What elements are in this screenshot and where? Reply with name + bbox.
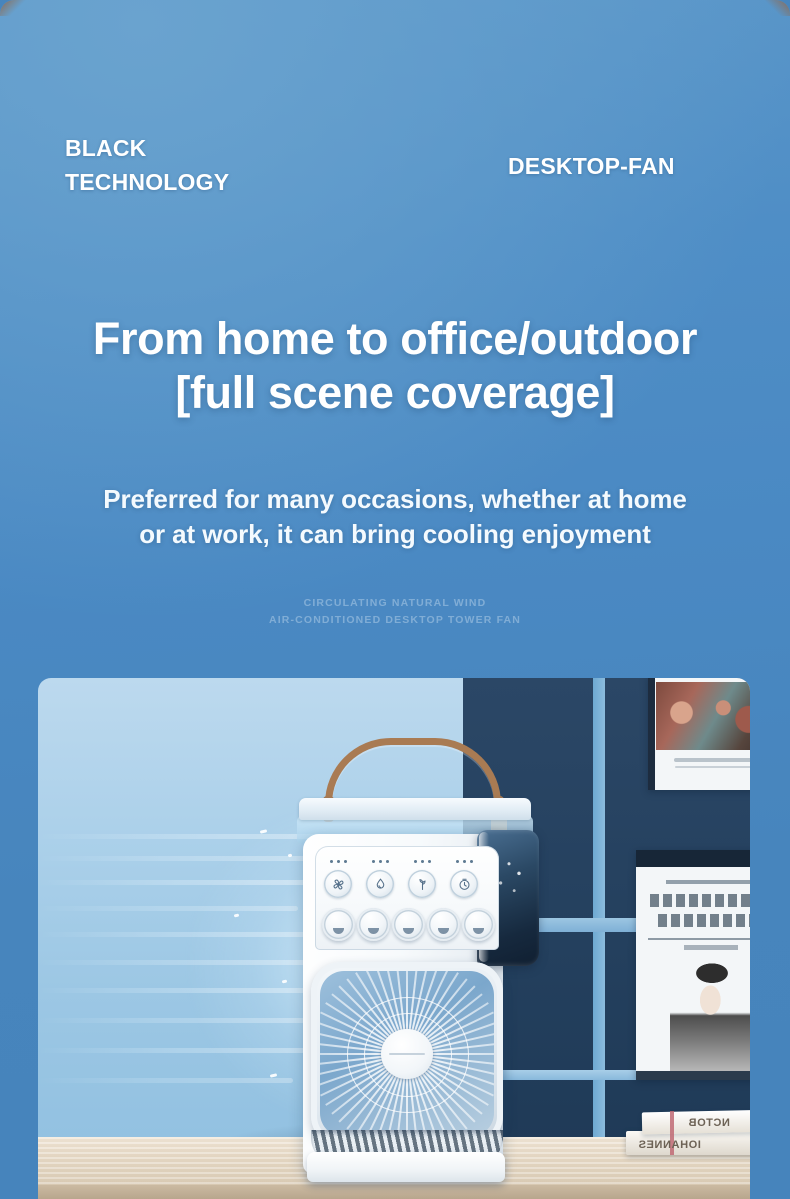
corner-artifact-right	[764, 0, 790, 16]
book-cover-rule	[648, 938, 750, 940]
shelf-divider-vertical	[593, 678, 605, 1152]
clock-icon	[457, 877, 472, 892]
fan-base	[307, 1152, 505, 1182]
water-drop-icon	[373, 877, 388, 892]
book-cover-footer	[636, 1071, 750, 1080]
frame-caption-lines	[674, 758, 750, 762]
product-photo: NCTOB IOHANNES	[38, 678, 750, 1199]
fan-icon	[331, 877, 346, 892]
headline: From home to office/outdoor [full scene …	[0, 312, 790, 420]
control-panel	[315, 846, 499, 950]
frame-spine	[648, 678, 655, 790]
brand-line-1: BLACK	[65, 131, 365, 165]
headline-line-1: From home to office/outdoor	[0, 312, 790, 366]
desktop-fan-unit	[281, 738, 546, 1178]
fan-grille-inner	[320, 971, 494, 1137]
stacked-books: NCTOB IOHANNES	[626, 1099, 750, 1155]
headline-line-2: [full scene coverage]	[0, 366, 790, 420]
watermark-text: CIRCULATING NATURAL WIND AIR-CONDITIONED…	[0, 595, 790, 629]
indicator-dots	[449, 860, 479, 863]
top-lid	[299, 798, 531, 820]
book-cover-subtitle	[666, 880, 750, 884]
mist-button[interactable]	[392, 908, 425, 941]
framed-picture-top	[648, 678, 750, 790]
corner-artifact-left	[0, 0, 26, 16]
book-cover-author	[684, 945, 738, 950]
watermark-line-2: AIR-CONDITIONED DESKTOP TOWER FAN	[0, 612, 790, 629]
humidify-indicator[interactable]	[408, 870, 436, 898]
product-kicker: DESKTOP-FAN	[508, 153, 675, 180]
book-cover-title-line-2	[658, 914, 750, 927]
book-cover-band	[636, 850, 750, 867]
product-banner: BLACK TECHNOLOGY DESKTOP-FAN From home t…	[0, 0, 790, 1199]
framed-book-cover	[636, 850, 750, 1080]
fan-hub	[381, 1029, 433, 1079]
book-cover-title-line-1	[650, 894, 750, 907]
fan-speed-indicator[interactable]	[324, 870, 352, 898]
book-title-upper: NCTOB	[688, 1117, 730, 1129]
speed-button[interactable]	[357, 908, 390, 941]
frame-artwork	[656, 682, 750, 750]
brand-label: BLACK TECHNOLOGY	[65, 131, 365, 199]
eyebrow-row: BLACK TECHNOLOGY DESKTOP-FAN	[0, 131, 790, 201]
book-title-lower: IOHANNES	[638, 1139, 701, 1151]
watermark-line-1: CIRCULATING NATURAL WIND	[0, 595, 790, 612]
desk-edge	[38, 1185, 750, 1199]
timer-indicator[interactable]	[450, 870, 478, 898]
subheadline: Preferred for many occasions, whether at…	[0, 482, 790, 552]
indicator-dots	[407, 860, 437, 863]
subheadline-line-1: Preferred for many occasions, whether at…	[0, 482, 790, 517]
fan-hub-line	[389, 1053, 425, 1055]
light-button[interactable]	[427, 908, 460, 941]
brand-line-2: TECHNOLOGY	[65, 165, 365, 199]
power-button[interactable]	[322, 908, 355, 941]
indicator-dots	[323, 860, 353, 863]
book-cover-figure	[670, 962, 750, 1074]
humidify-icon	[415, 877, 430, 892]
indicator-dots	[365, 860, 395, 863]
timer-button[interactable]	[462, 908, 495, 941]
mist-indicator[interactable]	[366, 870, 394, 898]
fan-grille	[311, 962, 503, 1146]
carry-handle	[325, 738, 501, 804]
subheadline-line-2: or at work, it can bring cooling enjoyme…	[0, 517, 790, 552]
